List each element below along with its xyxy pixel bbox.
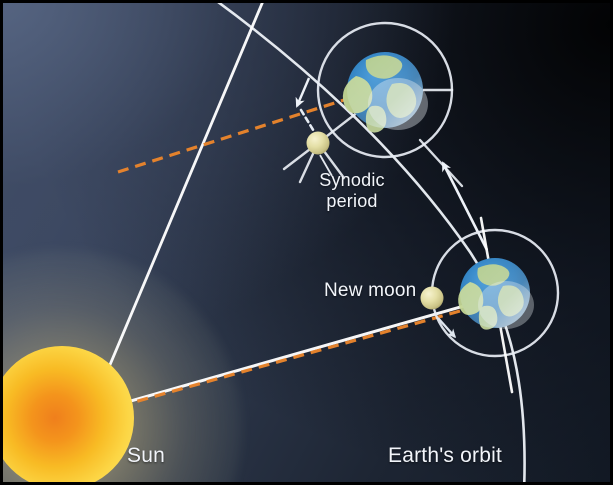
moon-lower xyxy=(421,287,444,310)
earth-lower xyxy=(458,258,534,330)
new-moon-label: New moon xyxy=(324,280,416,302)
earths-orbit-label: Earth's orbit xyxy=(388,444,502,468)
lines-layer xyxy=(0,0,613,485)
synodic-period-line-1: Synodic xyxy=(319,170,384,190)
synodic-period-label: Synodic period xyxy=(306,170,398,212)
earth-upper xyxy=(343,52,428,133)
synodic-arrow xyxy=(297,78,309,106)
sun-to-earth-upper-line xyxy=(104,0,266,379)
synodic-period-line-2: period xyxy=(326,191,377,211)
moon-upper xyxy=(307,132,330,155)
synodic-gap-dashed-line xyxy=(301,110,315,133)
diagram-canvas: Synodic period New moon Sun Earth's orbi… xyxy=(0,0,613,485)
sun-body xyxy=(0,346,134,485)
sun-label: Sun xyxy=(127,444,165,468)
